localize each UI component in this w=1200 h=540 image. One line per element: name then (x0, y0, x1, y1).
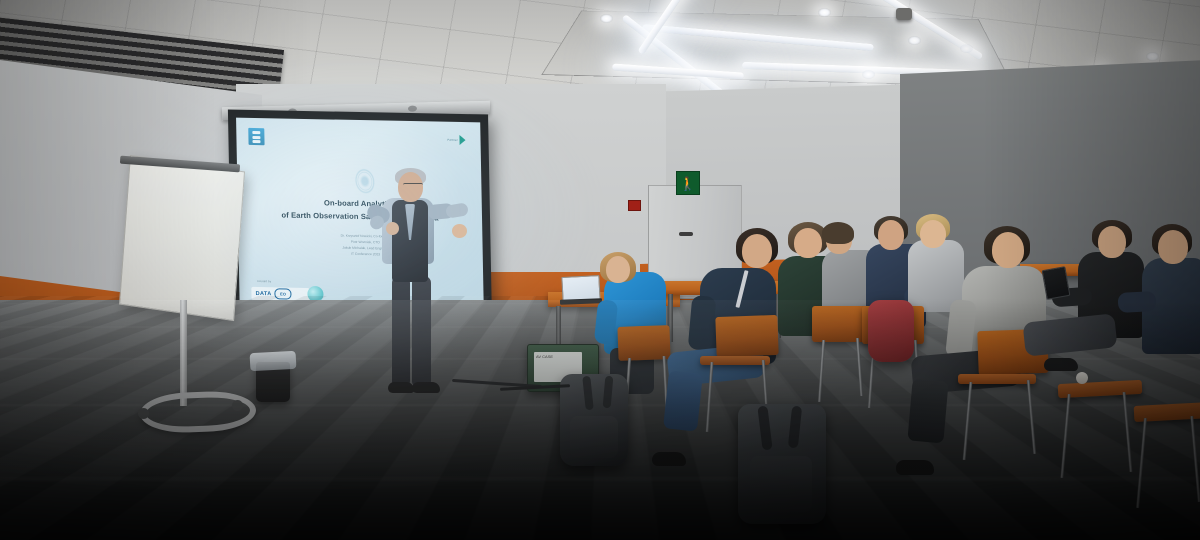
host-logo-caption: Hosted by (257, 280, 271, 283)
door-handle[interactable] (679, 232, 693, 236)
attendee-head (606, 256, 630, 283)
attendee-head (794, 228, 822, 258)
glasses-icon (403, 183, 423, 189)
presenter-hand (386, 222, 399, 235)
chevron-logo-icon (460, 135, 466, 145)
attendee-head (742, 234, 772, 268)
presentation-photo-scene: 🚶 Partner On-board Analytics of Earth Ob… (0, 0, 1200, 540)
attendee-head (1098, 226, 1126, 258)
presenter-hand (452, 224, 467, 238)
emergency-exit-sign: 🚶 (676, 171, 700, 195)
attendee-head (920, 220, 946, 248)
attendee-head (992, 232, 1024, 268)
partner-logo: Partner (432, 133, 466, 146)
flipchart-board[interactable] (119, 155, 245, 321)
partner-logo-label: Partner (447, 137, 458, 141)
attendee-head (878, 220, 904, 250)
tablet-device[interactable] (1042, 266, 1071, 300)
attendee-head (1158, 230, 1188, 264)
floor-shading (0, 300, 1200, 540)
presenter-waistcoat (392, 200, 428, 282)
fire-alarm-icon[interactable] (628, 200, 641, 211)
projection-screen: Partner On-board Analytics of Earth Obse… (228, 110, 492, 327)
organiser-logo-icon (248, 128, 264, 145)
attendee-hair (822, 222, 854, 244)
